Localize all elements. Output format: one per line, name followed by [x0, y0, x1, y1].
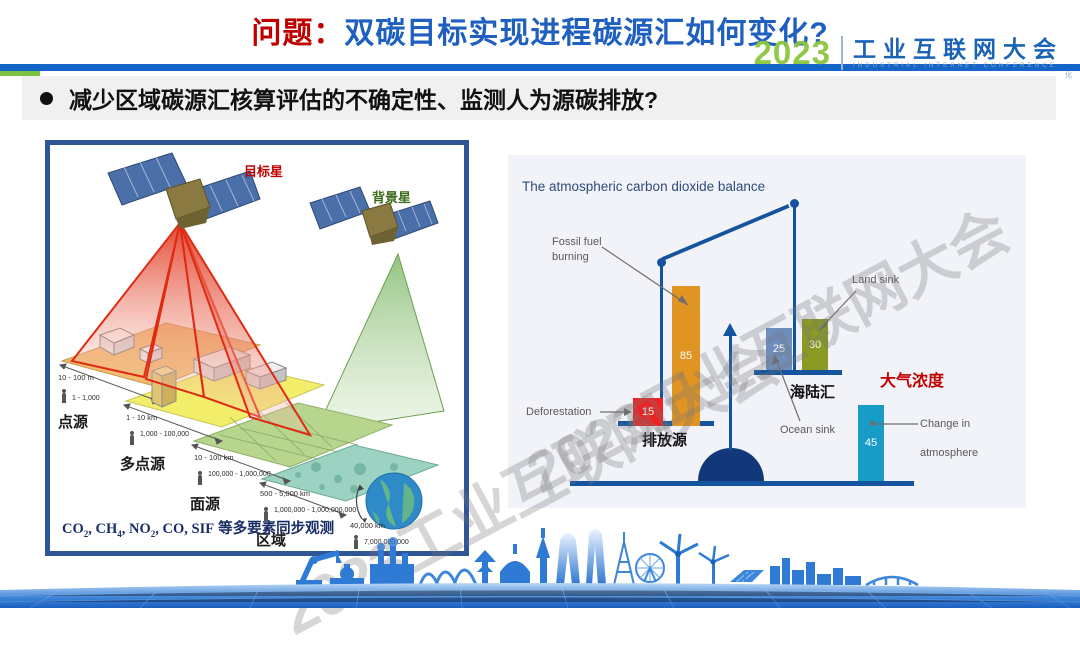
bridge-icon: [420, 570, 476, 585]
bullet-text: 减少区域碳源汇核算评估的不确定性、监测人为源碳排放?: [69, 81, 658, 115]
observation-scene-graphic: [54, 149, 464, 551]
annotation-deforestation: Deforestation: [526, 405, 591, 420]
twin-tower-icon: [586, 529, 606, 585]
balance-right-post: [793, 203, 796, 373]
annotation-change-line1: Change in: [920, 417, 978, 432]
bar-deforestation: 15: [633, 398, 663, 426]
scale-population-area-source: 100,000 - 1,000,000: [208, 471, 286, 480]
slide-canvas: 问题：双碳目标实现进程碳源汇如何变化? 减少区域碳源汇核算评估的不确定性、监测人…: [0, 0, 1080, 608]
logo-name-cn: 工业互联网大会: [853, 36, 1063, 62]
logo-year: 2023: [754, 36, 831, 70]
bar-value-land-sink: 30: [802, 339, 828, 351]
scale-name-multi-point: 多点源: [120, 453, 165, 474]
far-bridge-icon: [866, 577, 918, 585]
scale-distance-point-source: 10 - 100 m: [58, 373, 94, 382]
bar-change-in-atmosphere: 45: [858, 405, 884, 481]
city-blocks-icon: [770, 558, 861, 585]
balance-right-pivot: [790, 199, 799, 208]
balance-arrow-icon: [723, 323, 737, 336]
annotation-change-in-atmosphere: Change in atmosphere: [920, 417, 978, 461]
pipe-icon: [330, 564, 364, 585]
group-label-sinks: 海陆汇: [790, 381, 835, 402]
gate-tower-icon: [556, 533, 580, 585]
person-icon-multi-point: [130, 435, 134, 445]
factory-icon: [370, 537, 414, 585]
scale-population-region: 1,000,000 - 1,000,000,000: [274, 507, 358, 516]
balance-pillar: [729, 330, 732, 450]
scale-name-point-source: 点源: [58, 411, 88, 432]
annotation-change-line2: atmosphere: [920, 446, 978, 461]
left-image-panel: 目标星 背景星 10 - 100 m 1 - 1,000 点源 1 - 10 k…: [48, 143, 466, 553]
scale-distance-multi-point: 1 - 10 km: [126, 413, 157, 422]
carbon-balance-chart: The atmospheric carbon dioxide balance 1…: [508, 155, 1026, 508]
leader-deforestation: [600, 405, 636, 419]
footer-decoration: [0, 520, 1080, 608]
annotation-fossil-fuel: Fossil fuel burning: [552, 235, 602, 265]
target-satellite-icon: [108, 153, 260, 229]
leader-land-sink: [814, 287, 860, 335]
wind-turbine-icon: [660, 534, 698, 585]
group-label-emission-sources: 排放源: [642, 429, 687, 450]
bar-value-fossil-fuel: 85: [672, 350, 700, 362]
balance-fulcrum: [698, 448, 764, 481]
logo-tail-char: 化: [1065, 70, 1072, 80]
label-background-satellite: 背景星: [372, 187, 411, 206]
scale-name-area-source: 面源: [190, 493, 220, 514]
person-icon-point-source: [62, 393, 66, 403]
city-skyline-graphic: [0, 520, 1080, 608]
bullet-banner: 减少区域碳源汇核算评估的不确定性、监测人为源碳排放?: [22, 76, 1056, 120]
chart-title: The atmospheric carbon dioxide balance: [522, 179, 765, 194]
conference-logo: 2023 工业互联网大会 INDUSTRIAL INTERNET CONFERE…: [754, 36, 1072, 80]
annotation-fossil-fuel-line2: burning: [552, 250, 602, 265]
bar-value-change-in-atmosphere: 45: [858, 437, 884, 449]
wind-turbine-icon-2: [699, 546, 729, 585]
dome-building-icon: [500, 544, 530, 585]
spire-tower-icon: [536, 528, 550, 585]
annotation-land-sink: Land sink: [852, 273, 899, 288]
logo-separator: [841, 36, 843, 70]
bar-value-deforestation: 15: [633, 406, 663, 418]
page-title-prefix: 问题：: [251, 17, 344, 50]
scale-population-point-source: 1 - 1,000: [72, 395, 100, 404]
group-label-atmospheric-concentration: 大气浓度: [880, 367, 944, 391]
leader-change-in-atmosphere: [874, 420, 922, 428]
balance-base: [570, 481, 914, 486]
logo-name-en: INDUSTRIAL INTERNET CONFERENCE: [853, 62, 1063, 71]
bullet-dot-icon: [40, 92, 53, 105]
label-target-satellite: 目标星: [244, 161, 283, 180]
leader-fossil-fuel: [600, 243, 696, 315]
solar-panel-icon: [730, 570, 764, 582]
pagoda-icon: [474, 550, 496, 585]
annotation-fossil-fuel-line1: Fossil fuel: [552, 235, 602, 250]
annotation-ocean-sink: Ocean sink: [780, 423, 835, 438]
scale-distance-area-source: 10 - 100 km: [194, 453, 234, 462]
lattice-tower-icon: [614, 532, 634, 585]
ferris-wheel-icon: [636, 554, 664, 582]
scale-distance-region: 500 - 5,000 km: [260, 489, 310, 498]
person-icon-area-source: [198, 475, 202, 485]
satellite-observation-diagram: 目标星 背景星 10 - 100 m 1 - 1,000 点源 1 - 10 k…: [54, 149, 460, 547]
scale-population-multi-point: 1,000 - 100,000: [140, 431, 210, 440]
